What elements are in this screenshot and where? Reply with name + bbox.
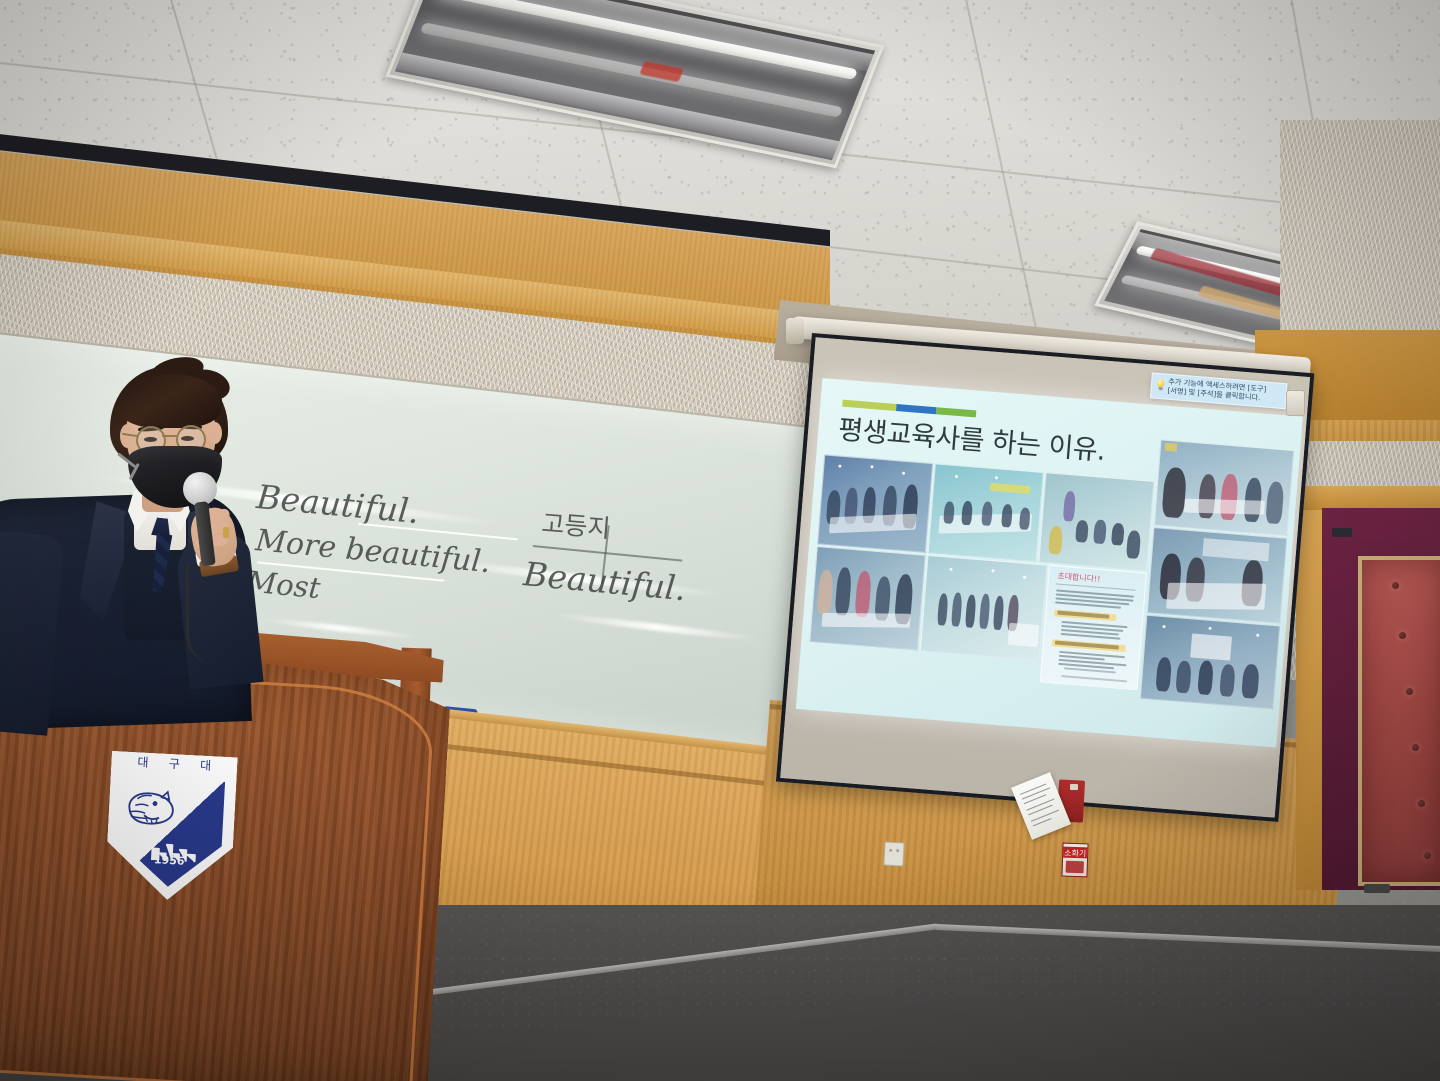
wall-outlet[interactable] (883, 841, 904, 866)
slide-invitation-poster: 초대합니다!! (1040, 565, 1147, 690)
door-frame-header (1296, 486, 1440, 510)
slide-photo (928, 463, 1044, 561)
slide-photo (1140, 615, 1280, 709)
door-tuft-button (1418, 800, 1425, 807)
lecture-hall-photo: Beautiful. More beautiful. Most 고등지 Beau… (0, 0, 1440, 1081)
speaker (0, 360, 340, 690)
crest-hangul-char: 구 (168, 755, 180, 773)
poster-section-heading (1054, 609, 1116, 621)
whiteboard-korean-note: 고등지 (540, 504, 612, 545)
crest-shield: 1956 TAEGU UNIVERSITY (116, 776, 225, 889)
tiger-head-icon (123, 785, 181, 832)
door-tuft-button (1406, 688, 1413, 695)
slide-photo (1038, 472, 1154, 570)
glasses-bridge (162, 435, 177, 437)
slide-photo (920, 555, 1047, 660)
slide-photo (809, 546, 925, 650)
poster-title: 초대합니다!! (1057, 570, 1101, 584)
crest-hangul-char: 대 (200, 756, 212, 774)
hair-front-fringe (118, 374, 222, 428)
fire-extinguisher-sign: 소화기 (1061, 843, 1088, 878)
presentation-slide: 평생교육사를 하는 이유. (796, 378, 1303, 748)
door-tuft-button (1392, 582, 1399, 589)
lightbulb-icon (1155, 379, 1165, 392)
door-tuft-button (1412, 744, 1419, 751)
extinguisher-valve (1070, 784, 1078, 790)
microphone-head (183, 472, 217, 506)
fire-extinguisher-label: 소화기 (1063, 847, 1087, 859)
slide-photo (1147, 527, 1287, 623)
whiteboard-glare (553, 612, 762, 643)
slide-photo (817, 454, 933, 552)
door-sign-small (1332, 528, 1352, 537)
projection-screen: 평생교육사를 하는 이유. (776, 333, 1314, 822)
whiteboard-right-word: Beautiful. (522, 554, 688, 608)
slide-photo (1154, 439, 1294, 535)
wall-sensor (1286, 390, 1305, 416)
finger-ring (223, 527, 229, 538)
microphone-cable (186, 564, 215, 664)
screen-roller-endcap (786, 318, 804, 344)
door-tuft-button (1424, 852, 1431, 859)
door-padded-panel[interactable] (1358, 556, 1440, 886)
crest-hangul-char: 대 (137, 753, 149, 771)
powerpoint-tooltip-text: 추가 기능에 액세스하려면 [도구] [서명] 및 [주석]을 클릭합니다. (1167, 378, 1282, 405)
door-tuft-button (1399, 632, 1406, 639)
university-emblem: 대 구 대 (104, 751, 237, 903)
